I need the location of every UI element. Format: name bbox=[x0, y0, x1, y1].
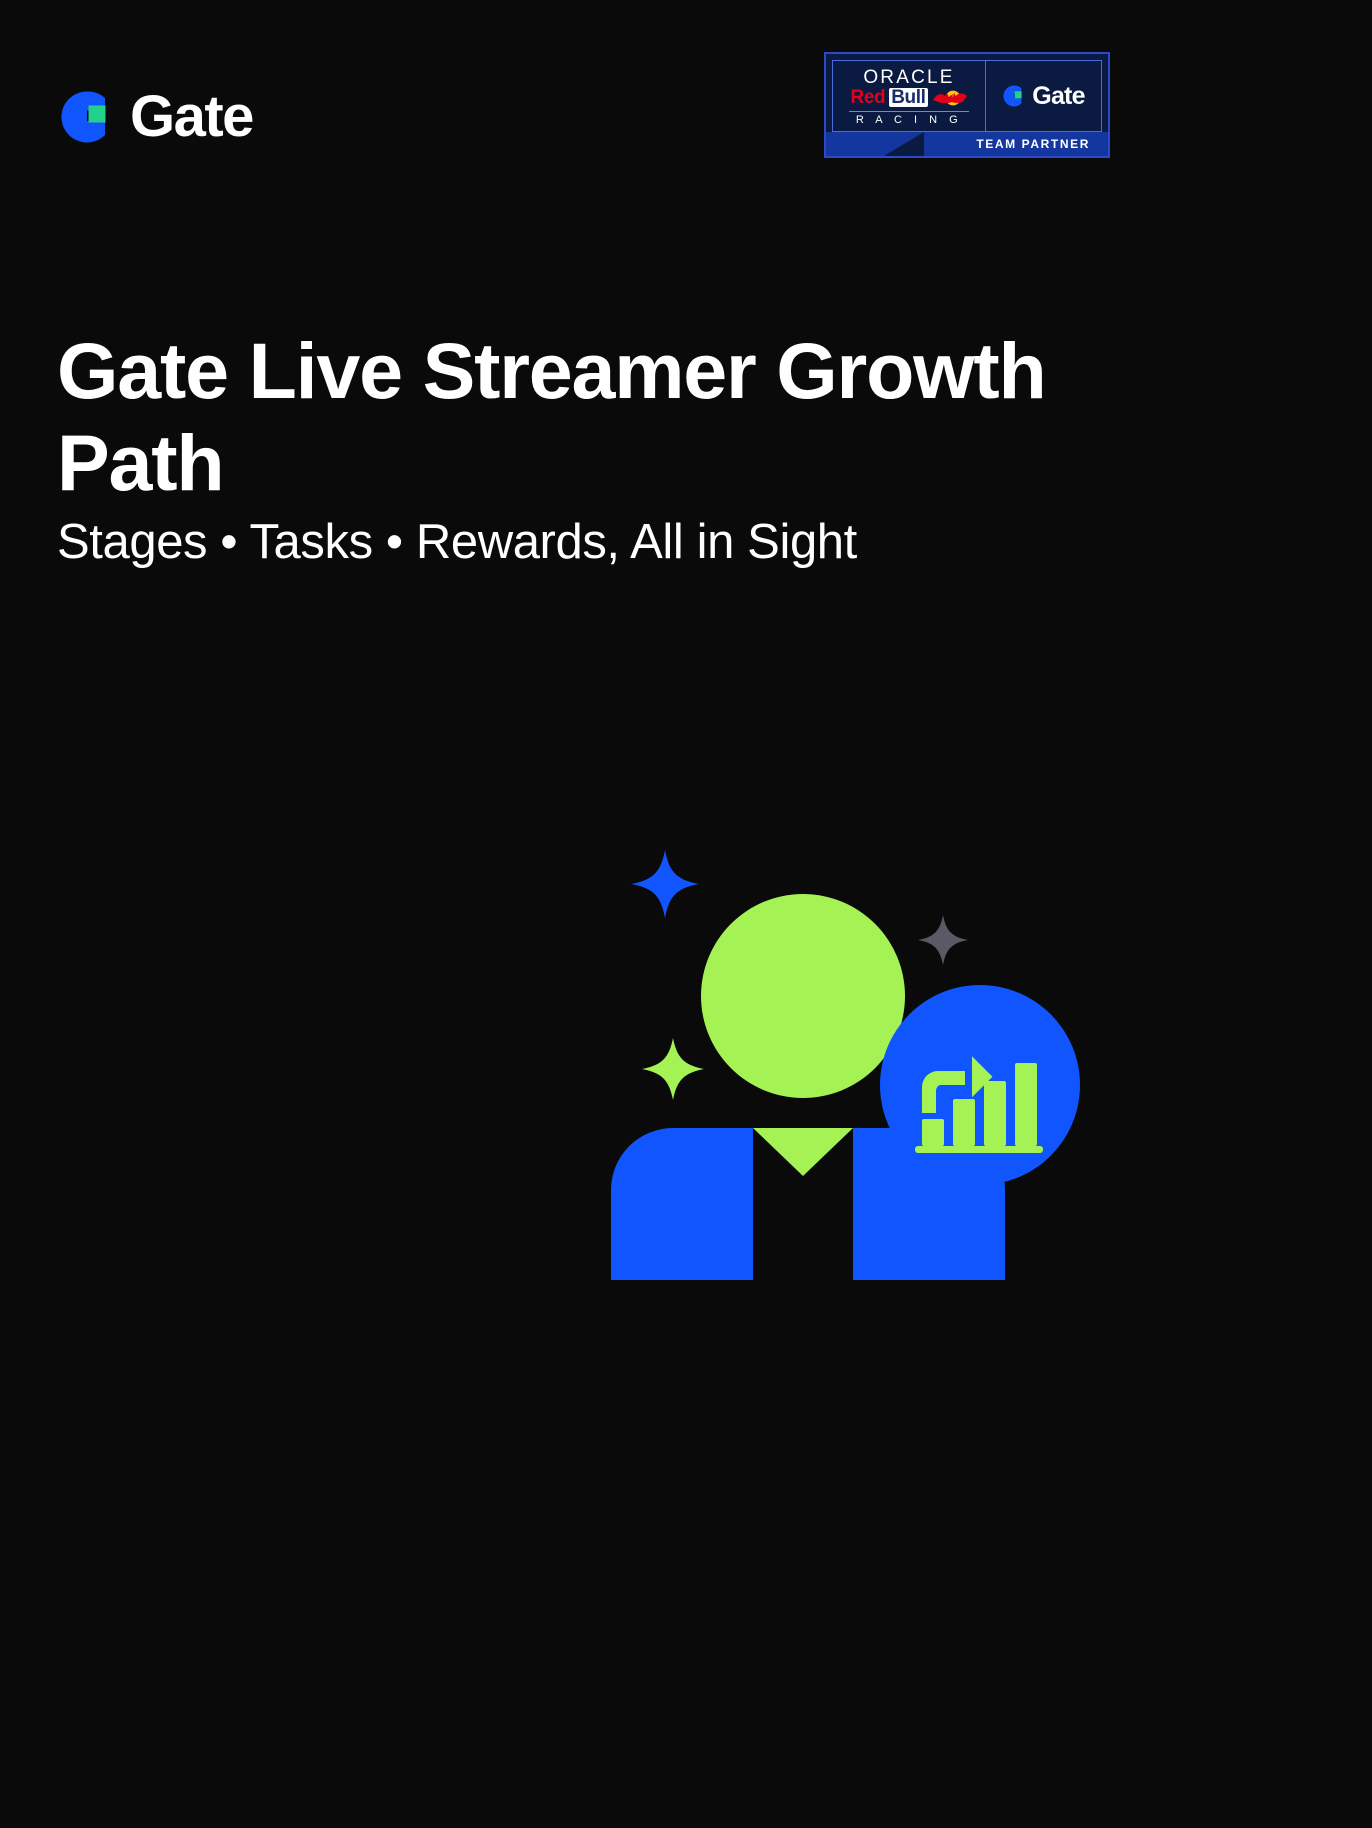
oracle-red-bull-racing-team-partner-badge: ORACLE Red Bull R A C I N G bbox=[824, 52, 1110, 158]
red-bull-racing-lockup: ORACLE Red Bull R A C I N G bbox=[833, 61, 985, 131]
gate-logo-icon bbox=[58, 88, 116, 146]
red-bull-row: Red Bull bbox=[851, 88, 968, 107]
v-collar bbox=[753, 1128, 853, 1176]
growth-bar-chart-circle bbox=[880, 985, 1080, 1185]
racing-wordmark: R A C I N G bbox=[856, 115, 962, 126]
page-subtitle: Stages • Tasks • Rewards, All in Sight bbox=[57, 513, 1157, 572]
banner-notch bbox=[884, 132, 924, 156]
badge-inner-frame: ORACLE Red Bull R A C I N G bbox=[832, 60, 1102, 132]
gate-lockup: Gate bbox=[1002, 84, 1084, 109]
badge-gate-lockup: Gate bbox=[985, 61, 1101, 131]
sparkle-four-point-green bbox=[642, 1038, 704, 1100]
person-head-circle bbox=[701, 894, 905, 1098]
sparkle-four-point-gray bbox=[918, 915, 968, 965]
team-partner-banner: TEAM PARTNER bbox=[826, 132, 1108, 156]
gate-brand-logo: Gate bbox=[58, 88, 253, 146]
gate-logo-icon bbox=[1002, 84, 1026, 108]
oracle-wordmark: ORACLE bbox=[863, 68, 954, 87]
page-title: Gate Live Streamer Growth Path bbox=[57, 325, 1137, 508]
gate-wordmark: Gate bbox=[130, 88, 253, 146]
sparkle-four-point-blue bbox=[631, 850, 699, 918]
gate-wordmark: Gate bbox=[1032, 84, 1084, 109]
badge-divider-rule bbox=[849, 111, 969, 112]
left-shoulder bbox=[611, 1128, 753, 1280]
streamer-growth-illustration bbox=[595, 830, 1105, 1280]
red-word: Red bbox=[851, 88, 886, 107]
poster-page: Gate ORACLE Red Bull bbox=[0, 0, 1372, 1828]
team-partner-label: TEAM PARTNER bbox=[976, 138, 1090, 150]
red-bull-charging-bulls-icon bbox=[932, 89, 968, 107]
bull-word: Bull bbox=[889, 88, 927, 107]
